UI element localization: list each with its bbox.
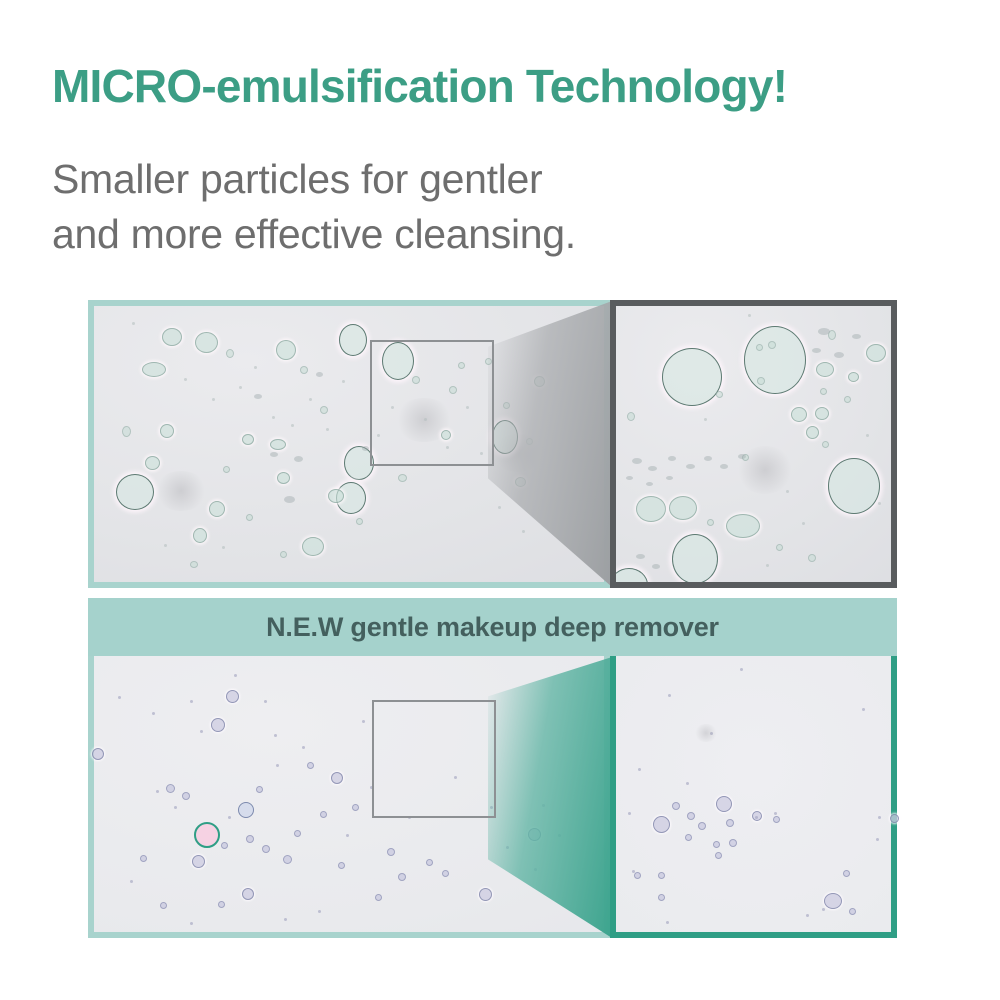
magnified-inset-bottom xyxy=(610,656,897,938)
page-subtitle: Smaller particles for gentler and more e… xyxy=(52,152,812,262)
poster-canvas: MICRO-emulsification Technology! Smaller… xyxy=(0,0,1000,1000)
micro-emulsion-panel xyxy=(88,656,610,938)
droplet-layer-top xyxy=(94,306,604,582)
selection-box-top[interactable] xyxy=(370,340,494,466)
page-title: MICRO-emulsification Technology! xyxy=(52,62,972,110)
product-name-label: N.E.W gentle makeup deep remover xyxy=(266,612,719,643)
selection-box-bottom[interactable] xyxy=(372,700,496,818)
product-name-banner: N.E.W gentle makeup deep remover xyxy=(88,598,897,656)
magnified-inset-top xyxy=(610,300,897,588)
droplet-layer-bottom xyxy=(94,656,604,932)
subtitle-line-1: Smaller particles for gentler xyxy=(52,152,812,207)
subtitle-line-2: and more effective cleansing. xyxy=(52,207,812,262)
droplet-layer-top-inset xyxy=(616,306,891,582)
conventional-emulsion-panel xyxy=(88,300,610,588)
droplet-layer-bottom-inset xyxy=(616,656,891,932)
